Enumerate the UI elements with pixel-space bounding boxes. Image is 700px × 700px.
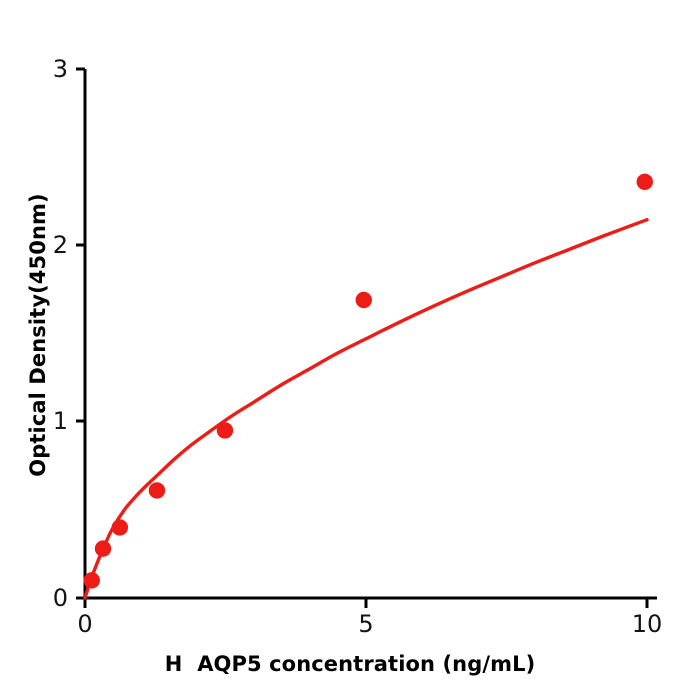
x-tick-label-5: 5 — [358, 610, 373, 638]
data-point-markers — [84, 174, 653, 589]
x-tick-label-10: 10 — [632, 610, 663, 638]
y-tick-label-0: 0 — [53, 584, 68, 612]
x-axis-title: H AQP5 concentration (ng/mL) — [165, 652, 536, 676]
data-point — [84, 572, 100, 588]
chart-canvas — [0, 0, 700, 700]
y-tick-label-3: 3 — [53, 55, 68, 83]
x-tick-label-0: 0 — [77, 610, 92, 638]
data-point — [356, 292, 372, 308]
data-point — [637, 174, 653, 190]
y-tick-label-2: 2 — [53, 231, 68, 259]
data-point — [95, 540, 111, 556]
data-point — [217, 422, 233, 438]
chart-container: 3 2 1 0 0 5 10 H AQP5 concentration (ng/… — [0, 0, 700, 700]
y-tick-label-1: 1 — [53, 407, 68, 435]
data-point — [149, 482, 165, 498]
data-point — [112, 519, 128, 535]
y-axis-title: Optical Density(450nm) — [26, 193, 50, 476]
fit-curve — [85, 220, 647, 598]
